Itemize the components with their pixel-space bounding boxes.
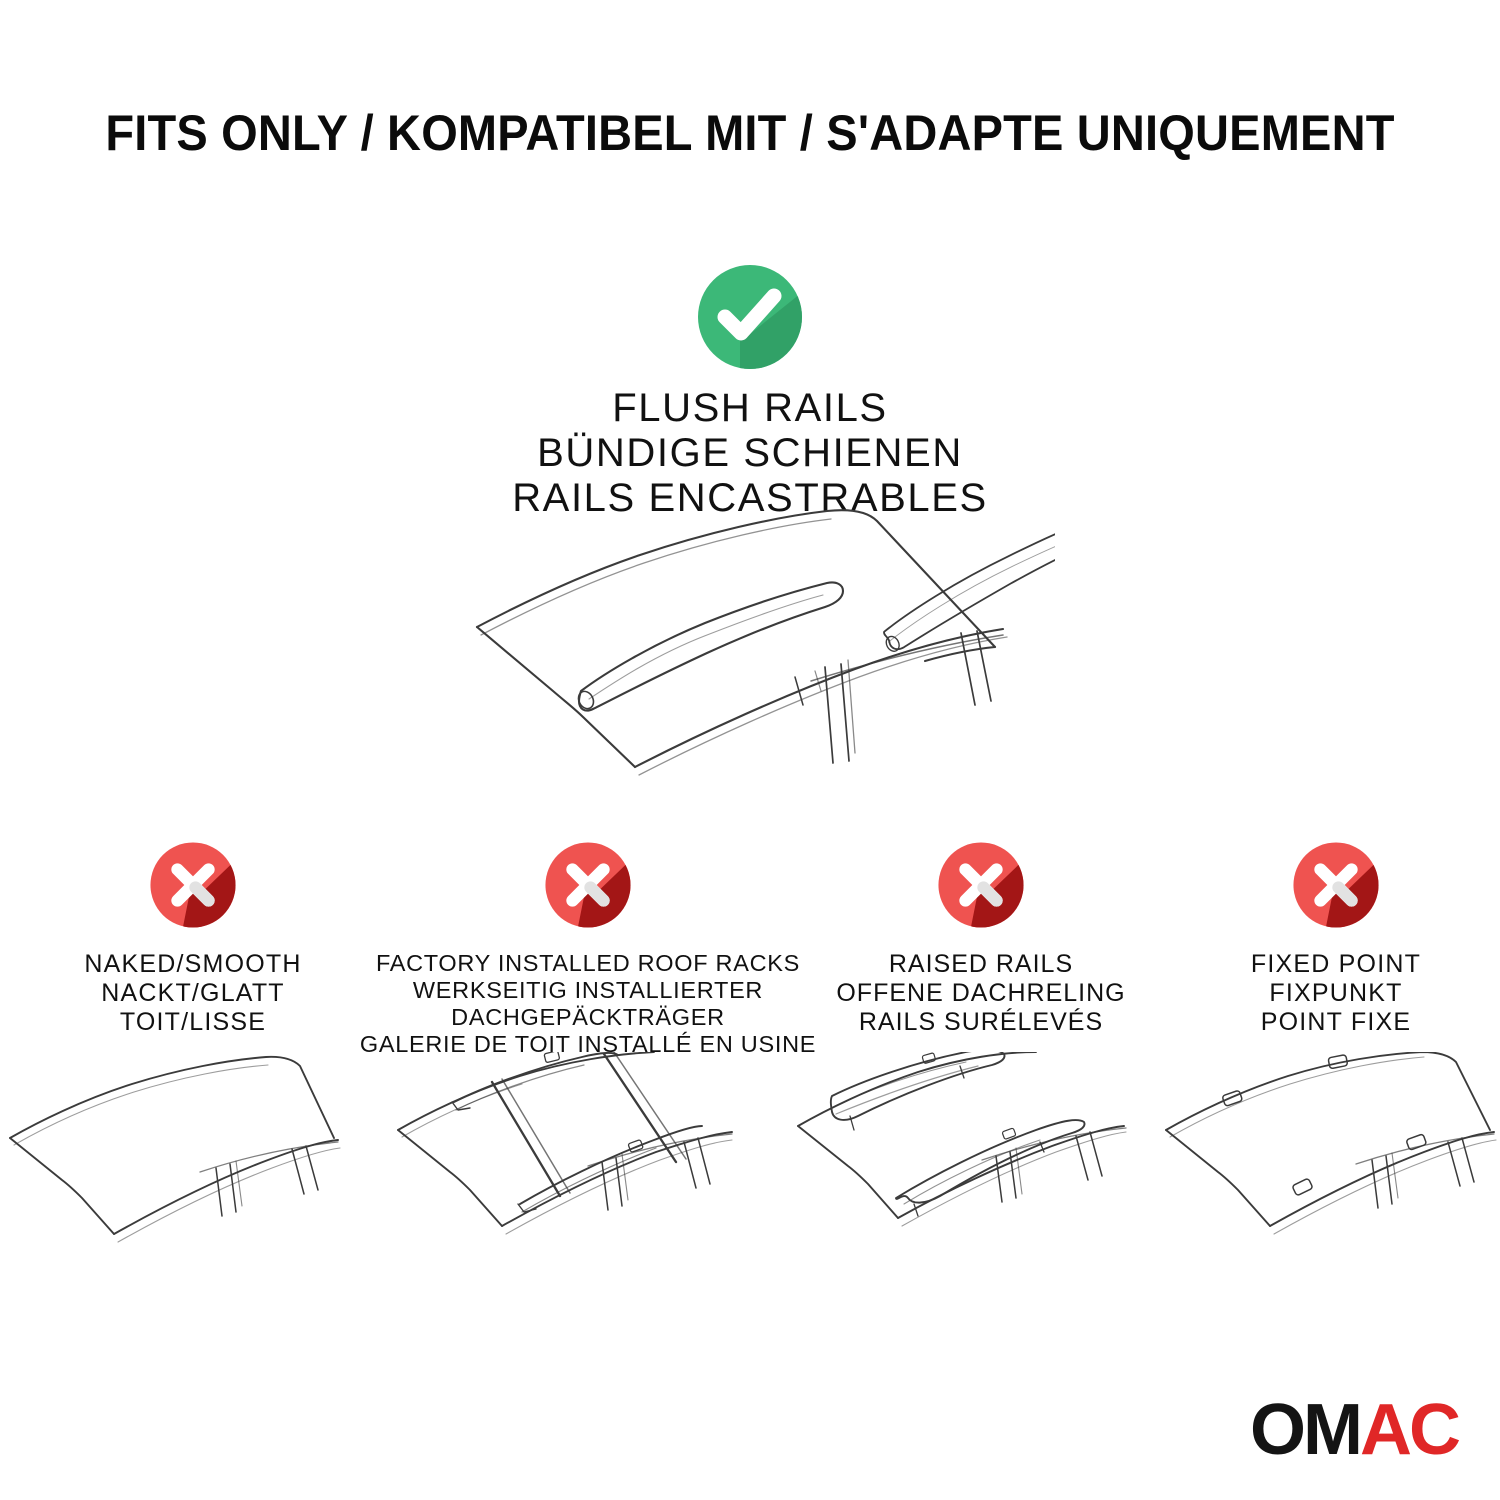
infographic-page: FITS ONLY / KOMPATIBEL MIT / S'ADAPTE UN… (0, 0, 1500, 1500)
car-roof-factory-racks-illustration (392, 1052, 752, 1292)
incompatible-labels: FACTORY INSTALLED ROOF RACKS WERKSEITIG … (360, 950, 816, 1058)
label-fr: POINT FIXE (1251, 1008, 1421, 1037)
label-en: RAISED RAILS (836, 950, 1125, 979)
x-circle-icon (936, 840, 1026, 930)
label-fr: TOIT/LISSE (84, 1008, 301, 1037)
label-en: FIXED POINT (1251, 950, 1421, 979)
car-roof-fixed-point-illustration (1160, 1052, 1500, 1282)
compatible-label-de: BÜNDIGE SCHIENEN (0, 431, 1500, 476)
compatible-label-en: FLUSH RAILS (0, 386, 1500, 431)
incompatible-item-raised-rails: RAISED RAILS OFFENE DACHRELING RAILS SUR… (790, 840, 1172, 1037)
label-de: OFFENE DACHRELING (836, 979, 1125, 1008)
compatible-section: FLUSH RAILS BÜNDIGE SCHIENEN RAILS ENCAS… (0, 262, 1500, 521)
label-de-1: WERKSEITIG INSTALLIERTER (360, 977, 816, 1004)
incompatible-item-factory-racks: FACTORY INSTALLED ROOF RACKS WERKSEITIG … (386, 840, 790, 1058)
car-roof-flush-rails-illustration (455, 495, 1055, 795)
label-de: FIXPUNKT (1251, 979, 1421, 1008)
label-de-2: DACHGEPÄCKTRÄGER (360, 1004, 816, 1031)
x-circle-icon (1291, 840, 1381, 930)
incompatible-item-naked-smooth: NAKED/SMOOTH NACKT/GLATT TOIT/LISSE (0, 840, 386, 1037)
car-roof-raised-rails-illustration (792, 1052, 1142, 1292)
car-roof-naked-illustration (4, 1052, 344, 1282)
logo-text-red: AC (1360, 1394, 1458, 1466)
label-en: NAKED/SMOOTH (84, 950, 301, 979)
label-fr: RAILS SURÉLEVÉS (836, 1008, 1125, 1037)
incompatible-labels: FIXED POINT FIXPUNKT POINT FIXE (1251, 950, 1421, 1037)
incompatible-section: NAKED/SMOOTH NACKT/GLATT TOIT/LISSE (0, 840, 1500, 1058)
incompatible-item-fixed-point: FIXED POINT FIXPUNKT POINT FIXE (1172, 840, 1500, 1037)
x-circle-icon (148, 840, 238, 930)
logo-text-dark: OM (1250, 1394, 1360, 1466)
x-circle-icon (543, 840, 633, 930)
label-de: NACKT/GLATT (84, 979, 301, 1008)
incompatible-labels: NAKED/SMOOTH NACKT/GLATT TOIT/LISSE (84, 950, 301, 1037)
page-title: FITS ONLY / KOMPATIBEL MIT / S'ADAPTE UN… (45, 104, 1455, 162)
label-en: FACTORY INSTALLED ROOF RACKS (360, 950, 816, 977)
incompatible-labels: RAISED RAILS OFFENE DACHRELING RAILS SUR… (836, 950, 1125, 1037)
check-circle-icon (695, 262, 805, 372)
omac-logo: OM AC (1250, 1394, 1458, 1466)
